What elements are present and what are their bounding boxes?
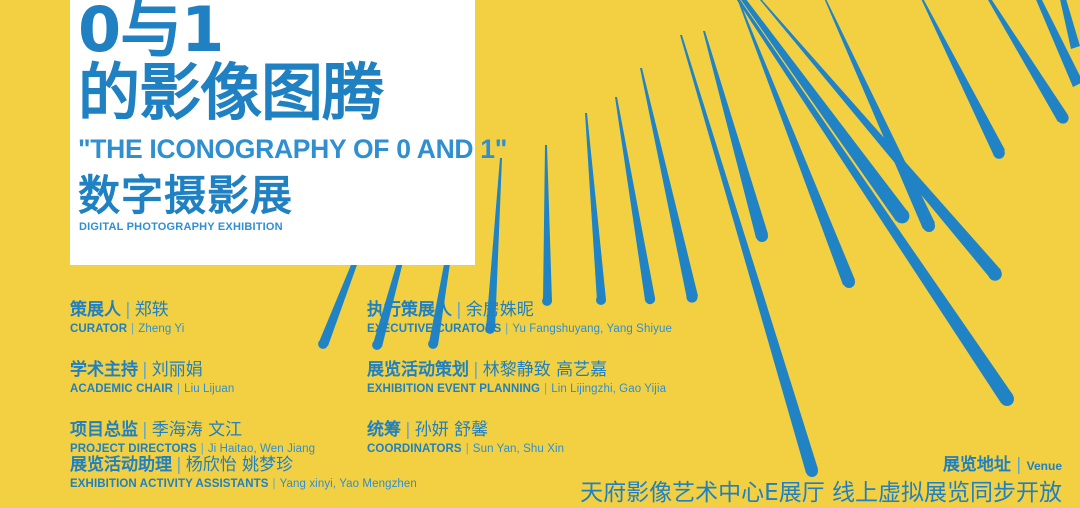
credit-block-curator: 策展人|郑轶 CURATOR|Zheng Yi	[70, 300, 370, 337]
page-subtitle-en: DIGITAL PHOTOGRAPHY EXHIBITION	[79, 221, 475, 233]
credit-cn-line: 展览活动助理|杨欣怡 姚梦珍	[70, 455, 417, 476]
credit-block-academic-chair: 学术主持|刘丽娟 ACADEMIC CHAIR|Liu Lijuan	[70, 360, 370, 397]
credit-block-exhibition-event-planning: 展览活动策划|林黎静致 高艺嘉 EXHIBITION EVENT PLANNIN…	[367, 360, 707, 397]
venue-heading: 展览地址|Venue	[580, 455, 1062, 477]
credit-en-line: CURATOR|Zheng Yi	[70, 322, 370, 337]
credit-names-cn: 孙妍 舒馨	[415, 420, 488, 440]
credit-role-cn: 项目总监	[70, 420, 138, 440]
credit-block-project-directors: 项目总监|季海涛 文江 PROJECT DIRECTORS|Ji Haitao,…	[70, 420, 370, 457]
credit-role-en: PROJECT DIRECTORS	[70, 443, 197, 455]
page-title-cn-line2: 的影像图腾	[78, 60, 475, 126]
page-subtitle-cn: 数字摄影展	[78, 172, 475, 220]
credit-cn-line: 统筹|孙妍 舒馨	[367, 420, 707, 441]
credit-block-executive-curators: 执行策展人|余房姝昵 EXECUTIVE CURATORS|Yu Fangshu…	[367, 300, 707, 337]
credit-role-en: EXHIBITION ACTIVITY ASSISTANTS	[70, 478, 269, 490]
credit-en-line: ACADEMIC CHAIR|Liu Lijuan	[70, 382, 370, 397]
credit-names-en: Ji Haitao, Wen Jiang	[208, 443, 315, 455]
page-title-en: "THE ICONOGRAPHY OF 0 AND 1"	[78, 134, 475, 165]
credit-separator: |	[173, 383, 184, 395]
credit-block-exhibition-activity-assistants: 展览活动助理|杨欣怡 姚梦珍 EXHIBITION ACTIVITY ASSIS…	[70, 455, 417, 492]
credit-separator: |	[269, 478, 280, 490]
credit-names-cn: 余房姝昵	[466, 300, 534, 320]
credit-en-line: EXHIBITION ACTIVITY ASSISTANTS|Yang xiny…	[70, 477, 417, 492]
credit-names-en: Yu Fangshuyang, Yang Shiyue	[512, 323, 672, 335]
credit-separator: |	[127, 323, 138, 335]
credit-names-en: Lin Lijingzhi, Gao Yijia	[551, 383, 666, 395]
credit-separator: |	[462, 443, 473, 455]
credit-role-cn: 展览活动策划	[367, 360, 469, 380]
credit-names-en: Zheng Yi	[138, 323, 184, 335]
credit-separator: |	[138, 420, 152, 440]
credit-role-en: EXHIBITION EVENT PLANNING	[367, 383, 540, 395]
credit-role-cn: 策展人	[70, 300, 121, 320]
credit-separator: |	[121, 300, 135, 320]
venue-label-en: Venue	[1027, 459, 1062, 473]
title-card: 0与1 的影像图腾 "THE ICONOGRAPHY OF 0 AND 1" 数…	[70, 0, 475, 265]
credit-role-en: COORDINATORS	[367, 443, 462, 455]
credit-names-cn: 林黎静致 高艺嘉	[483, 360, 607, 380]
credit-cn-line: 展览活动策划|林黎静致 高艺嘉	[367, 360, 707, 381]
credit-cn-line: 项目总监|季海涛 文江	[70, 420, 370, 441]
credit-names-en: Sun Yan, Shu Xin	[473, 443, 564, 455]
credit-names-cn: 季海涛 文江	[152, 420, 242, 440]
credit-separator: |	[540, 383, 551, 395]
credit-separator: |	[138, 360, 152, 380]
credit-cn-line: 策展人|郑轶	[70, 300, 370, 321]
credit-en-line: EXHIBITION EVENT PLANNING|Lin Lijingzhi,…	[367, 382, 707, 397]
credits-column-left: 策展人|郑轶 CURATOR|Zheng Yi 学术主持|刘丽娟 ACADEMI…	[70, 300, 370, 457]
venue-label-cn: 展览地址	[943, 455, 1011, 475]
credit-role-cn: 展览活动助理	[70, 455, 172, 475]
page-title-cn-line1: 0与1	[78, 0, 475, 60]
credit-separator: |	[197, 443, 208, 455]
credit-role-cn: 执行策展人	[367, 300, 452, 320]
credit-cn-line: 执行策展人|余房姝昵	[367, 300, 707, 321]
credit-en-line: EXECUTIVE CURATORS|Yu Fangshuyang, Yang …	[367, 322, 707, 337]
credit-separator: |	[172, 455, 186, 475]
credit-names-en: Liu Lijuan	[184, 383, 234, 395]
credit-separator: |	[501, 323, 512, 335]
credit-separator: |	[1011, 455, 1027, 475]
credit-separator: |	[452, 300, 466, 320]
credit-block-coordinators: 统筹|孙妍 舒馨 COORDINATORS|Sun Yan, Shu Xin	[367, 420, 707, 457]
venue-block: 展览地址|Venue 天府影像艺术中心E展厅 线上虚拟展览同步开放	[580, 455, 1062, 508]
credit-role-en: EXECUTIVE CURATORS	[367, 323, 501, 335]
credit-names-en: Yang xinyi, Yao Mengzhen	[280, 478, 417, 490]
credit-role-cn: 统筹	[367, 420, 401, 440]
venue-address: 天府影像艺术中心E展厅 线上虚拟展览同步开放	[580, 479, 1062, 508]
credit-role-en: CURATOR	[70, 323, 127, 335]
credit-separator: |	[469, 360, 483, 380]
credit-separator: |	[401, 420, 415, 440]
credits-column-right: 执行策展人|余房姝昵 EXECUTIVE CURATORS|Yu Fangshu…	[367, 300, 707, 457]
credit-names-cn: 郑轶	[135, 300, 169, 320]
credit-role-cn: 学术主持	[70, 360, 138, 380]
poster-canvas: 0与1 的影像图腾 "THE ICONOGRAPHY OF 0 AND 1" 数…	[0, 0, 1080, 508]
credit-cn-line: 学术主持|刘丽娟	[70, 360, 370, 381]
credit-names-cn: 杨欣怡 姚梦珍	[186, 455, 293, 475]
credit-role-en: ACADEMIC CHAIR	[70, 383, 173, 395]
credit-names-cn: 刘丽娟	[152, 360, 203, 380]
